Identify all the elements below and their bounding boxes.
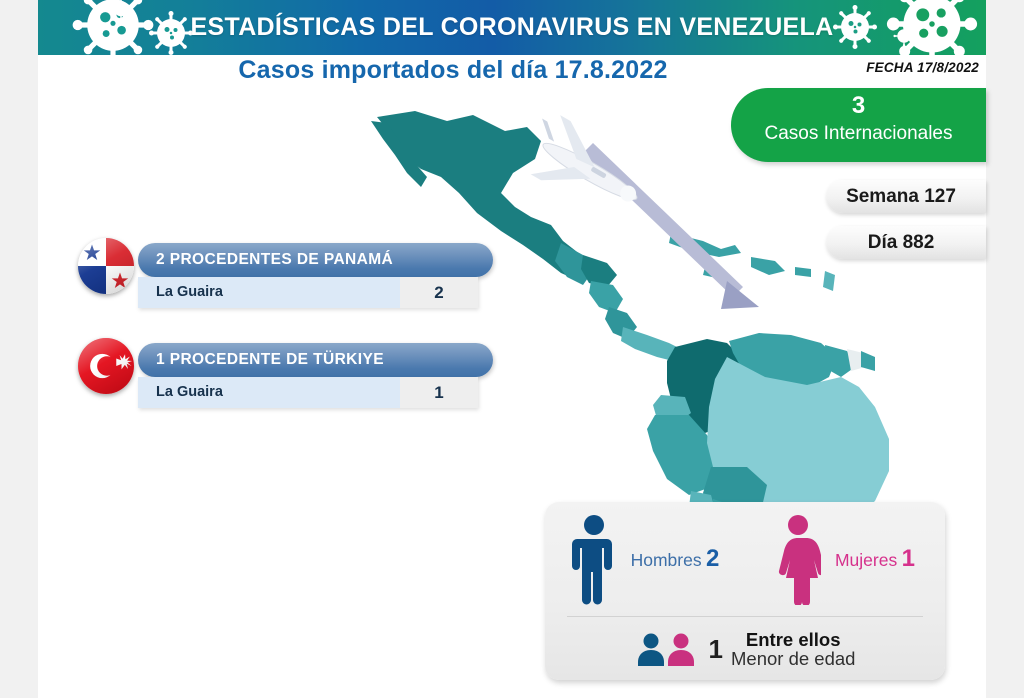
male-value: 2 — [706, 545, 719, 572]
map-region-nicaragua — [589, 281, 623, 313]
header-band: ESTADÍSTICAS DEL CORONAVIRUS EN VENEZUEL… — [38, 0, 986, 55]
day-pill: Día 882 — [826, 226, 986, 259]
female-figure-icon — [775, 513, 821, 605]
minor-line2: Menor de edad — [731, 649, 855, 668]
male-text: Hombres 2 — [631, 544, 720, 574]
airplane-icon — [515, 108, 654, 226]
map-region-puertorico — [795, 267, 811, 277]
origin-count-turkiye: 1 — [400, 377, 478, 408]
minor-text: Entre ellos Menor de edad — [731, 630, 855, 669]
panama-flag-icon — [78, 238, 134, 294]
infographic-page: ESTADÍSTICAS DEL CORONAVIRUS EN VENEZUEL… — [0, 0, 1024, 698]
international-cases-label: Casos Internacionales — [731, 121, 986, 147]
minor-stat-row: 1 Entre ellos Menor de edad — [545, 621, 945, 677]
date-label: FECHA 17/8/2022 — [866, 60, 979, 75]
female-value: 1 — [902, 545, 915, 572]
page-title: ESTADÍSTICAS DEL CORONAVIRUS EN VENEZUEL… — [38, 0, 986, 55]
map-region-honduras — [581, 255, 617, 287]
male-label: Hombres — [631, 550, 702, 570]
female-text: Mujeres 1 — [835, 544, 915, 574]
origin-title-turkiye: 1 PROCEDENTE DE TÜRKIYE — [138, 343, 493, 377]
minor-count: 1 — [709, 634, 723, 665]
panel-divider — [567, 616, 923, 617]
minor-line1: Entre ellos — [731, 630, 855, 649]
origin-count-panama: 2 — [400, 277, 478, 308]
map-region-antilles — [823, 271, 835, 291]
week-pill: Semana 127 — [826, 180, 986, 213]
international-cases-box: 3 Casos Internacionales — [731, 88, 986, 162]
female-label: Mujeres — [835, 550, 897, 570]
subtitle: Casos importados del día 17.8.2022 — [38, 56, 868, 85]
male-figure-icon — [571, 513, 617, 605]
map-region-frenchguiana — [861, 351, 875, 371]
two-busts-icon — [635, 632, 701, 666]
origin-row-turkiye: La Guaira 1 — [138, 377, 478, 408]
origin-place-panama: La Guaira — [138, 277, 400, 308]
turkiye-flag-icon — [78, 338, 134, 394]
gender-top-row: Hombres 2 Mujeres 1 — [545, 502, 945, 616]
origin-title-panama: 2 PROCEDENTES DE PANAMÁ — [138, 243, 493, 277]
gender-stats-panel: Hombres 2 Mujeres 1 — [545, 502, 945, 680]
female-stat: Mujeres 1 — [745, 502, 945, 616]
map-region-hispaniola — [751, 257, 785, 275]
origin-block-panama: 2 PROCEDENTES DE PANAMÁ La Guaira 2 — [78, 243, 498, 313]
origin-place-turkiye: La Guaira — [138, 377, 400, 408]
origin-block-turkiye: 1 PROCEDENTE DE TÜRKIYE La Guaira 1 — [78, 343, 498, 413]
international-cases-count: 3 — [731, 91, 986, 121]
origin-row-panama: La Guaira 2 — [138, 277, 478, 308]
male-stat: Hombres 2 — [545, 502, 745, 616]
